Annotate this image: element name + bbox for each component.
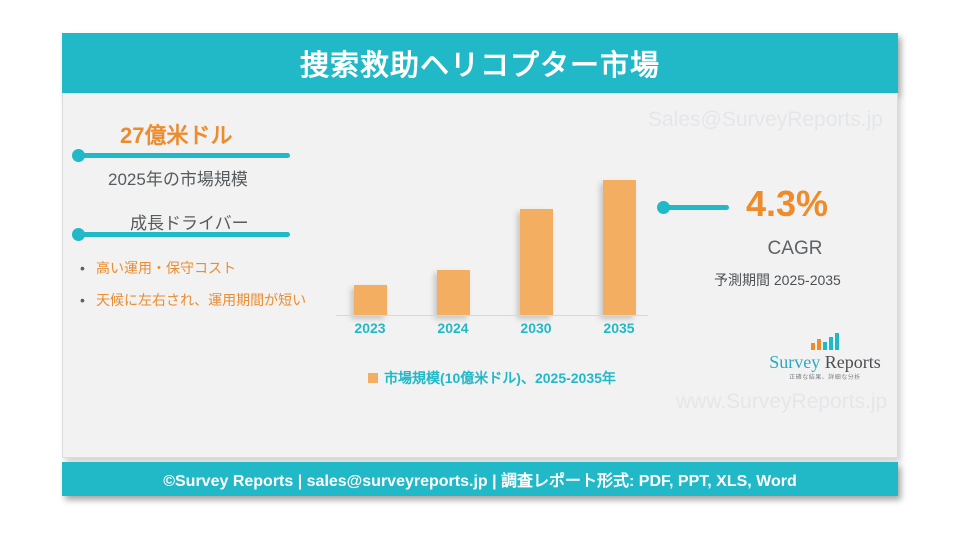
legend-label: 市場規模(10億米ドル)、2025-2035年: [384, 368, 616, 388]
cagr-period: 予測期間 2025-2035: [714, 270, 841, 290]
logo-word-reports: Reports: [820, 352, 881, 372]
bullet-icon: •: [80, 258, 85, 279]
footer-text: ©Survey Reports | sales@surveyreports.jp…: [163, 467, 797, 491]
logo: Survey Reports 正確な結果、詳細な分析: [760, 332, 890, 381]
chart-x-axis-labels: 2023 2024 2030 2035: [336, 320, 648, 342]
logo-tagline: 正確な結果、詳細な分析: [760, 372, 890, 381]
watermark-top: Sales@SurveyReports.jp: [648, 108, 883, 132]
bar-2024: [437, 270, 470, 316]
connector-line-growth-drivers: [78, 232, 290, 237]
x-label-0: 2023: [340, 320, 400, 336]
connector-dot-icon: [657, 201, 670, 214]
growth-drivers-list: • 高い運用・保守コスト • 天候に左右され、運用期間が短い: [78, 258, 328, 322]
market-size-value: 27億米ドル: [120, 118, 232, 150]
x-label-1: 2024: [423, 320, 483, 336]
watermark-bottom: www.SurveyReports.jp: [676, 390, 887, 414]
x-label-3: 2035: [589, 320, 649, 336]
list-item-label: 天候に左右され、運用期間が短い: [96, 292, 306, 308]
header-band: 捜索救助ヘリコプター市場: [62, 33, 898, 93]
growth-drivers-title: 成長ドライバー: [130, 209, 249, 234]
footer-band: ©Survey Reports | sales@surveyreports.jp…: [62, 462, 898, 496]
list-item: • 高い運用・保守コスト: [78, 258, 328, 279]
connector-line-market-size: [78, 153, 290, 158]
bullet-icon: •: [80, 290, 85, 311]
market-size-label: 2025年の市場規模: [108, 165, 248, 190]
bar-chart-icon: [760, 332, 890, 350]
bar-2030: [520, 209, 553, 316]
list-item: • 天候に左右され、運用期間が短い: [78, 290, 328, 311]
legend-swatch-icon: [368, 373, 378, 383]
cagr-value: 4.3%: [746, 183, 828, 225]
connector-dot-icon: [72, 149, 85, 162]
connector-dot-icon: [72, 228, 85, 241]
chart-legend: 市場規模(10億米ドル)、2025-2035年: [336, 368, 648, 388]
logo-word-survey: Survey: [769, 352, 820, 372]
bar-2023: [354, 285, 387, 316]
x-label-2: 2030: [506, 320, 566, 336]
bar-chart: [336, 160, 648, 316]
page-title: 捜索救助ヘリコプター市場: [300, 42, 660, 84]
chart-baseline: [336, 315, 648, 316]
infographic-canvas: 捜索救助ヘリコプター市場 Sales@SurveyReports.jp www.…: [0, 0, 960, 540]
bar-2035: [603, 180, 636, 316]
list-item-label: 高い運用・保守コスト: [96, 260, 236, 276]
connector-line-cagr: [663, 205, 729, 210]
cagr-label: CAGR: [746, 238, 844, 260]
logo-wordmark: Survey Reports: [760, 352, 890, 372]
